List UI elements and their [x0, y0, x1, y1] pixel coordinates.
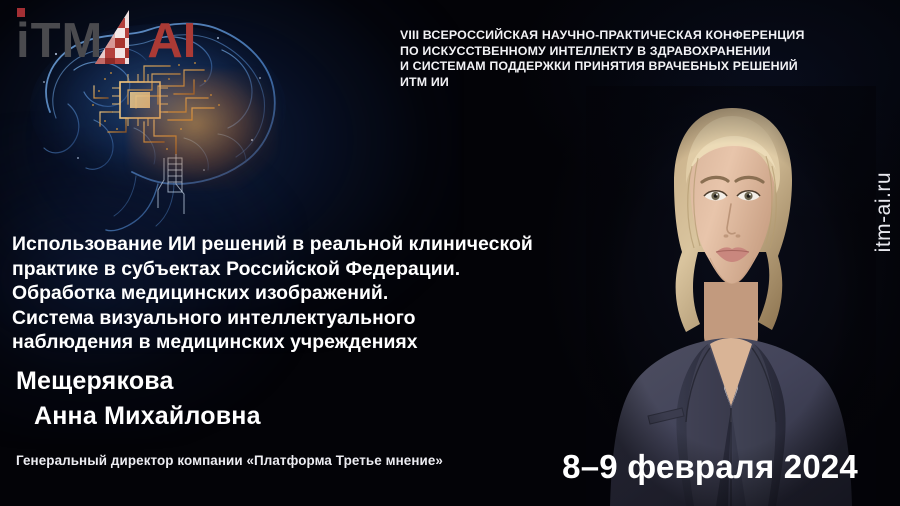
- conference-slide: iTM: [0, 0, 900, 506]
- brand-logo[interactable]: iTM: [16, 8, 196, 66]
- conference-title: VIII ВСЕРОССИЙСКАЯ НАУЧНО-ПРАКТИЧЕСКАЯ К…: [400, 28, 890, 90]
- speaker-given-names: Анна Михайловна: [16, 399, 261, 434]
- conference-title-line-3: И СИСТЕМАМ ПОДДЕРЖКИ ПРИНЯТИЯ ВРАЧЕБНЫХ …: [400, 59, 890, 75]
- conference-title-line-4: ИТМ ИИ: [400, 75, 890, 91]
- talk-title-line-4: Система визуального интеллектуального: [12, 306, 572, 331]
- talk-title: Использование ИИ решений в реальной клин…: [12, 232, 572, 355]
- talk-title-line-1: Использование ИИ решений в реальной клин…: [12, 232, 572, 257]
- talk-title-line-5: наблюдения в медицинских учреждениях: [12, 330, 572, 355]
- speaker-role: Генеральный директор компании «Платформа…: [16, 453, 443, 468]
- speaker-surname: Мещерякова: [16, 364, 261, 399]
- website-url-vertical[interactable]: itm-ai.ru: [872, 172, 896, 252]
- talk-title-line-2: практике в субъектах Российской Федераци…: [12, 257, 572, 282]
- talk-title-line-3: Обработка медицинских изображений.: [12, 281, 572, 306]
- checkered-triangle-mark-icon: [89, 8, 151, 66]
- speaker-portrait-photo: [586, 86, 876, 506]
- speaker-name: Мещерякова Анна Михайловна: [16, 364, 261, 434]
- conference-title-line-2: ПО ИСКУССТВЕННОМУ ИНТЕЛЛЕКТУ В ЗДРАВОХРА…: [400, 44, 890, 60]
- event-date: 8–9 февраля 2024: [562, 448, 858, 486]
- conference-title-line-1: VIII ВСЕРОССИЙСКАЯ НАУЧНО-ПРАКТИЧЕСКАЯ К…: [400, 28, 890, 44]
- logo-accent-dot: [17, 8, 25, 17]
- logo-text-ai: AI: [147, 17, 196, 66]
